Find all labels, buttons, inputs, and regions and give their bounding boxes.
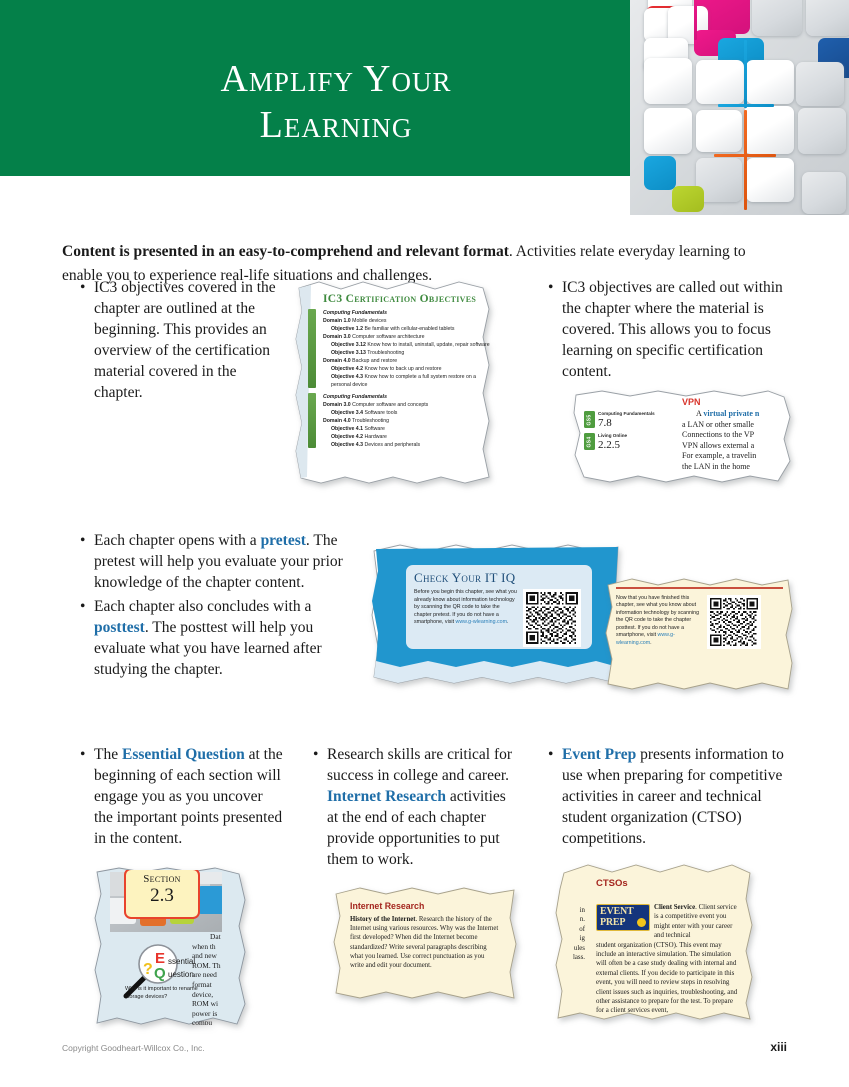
eq-column-line: Dat bbox=[192, 932, 246, 942]
posttest-copy-end: . bbox=[650, 640, 651, 646]
internet-research-content: Internet Research History of the Interne… bbox=[338, 891, 512, 999]
eq-column-line: device, bbox=[192, 990, 246, 1000]
ic3-bar-label: GS5 bbox=[301, 344, 302, 354]
ic3-objective-line: Objective 4.3 Devices and peripherals bbox=[323, 441, 490, 449]
ic3-bar-label: GS4 bbox=[301, 416, 302, 426]
bullet-dot-icon: • bbox=[80, 277, 94, 403]
posttest-content: Now that you have finished this chapter,… bbox=[610, 582, 789, 690]
vpn-body-line: A virtual private n bbox=[682, 409, 792, 420]
bullet-text-pre: Each chapter opens with a bbox=[94, 532, 261, 549]
bullet-highlight-event-prep: Event Prep bbox=[562, 746, 636, 763]
bullet-highlight-essential-question: Essential Question bbox=[122, 746, 245, 763]
internet-research-copy: History of the Internet. Research the hi… bbox=[350, 915, 500, 970]
posttest-divider bbox=[616, 587, 783, 589]
ic3-objective-line: Objective 4.3 Know how to complete a ful… bbox=[323, 373, 490, 389]
ic3-objective-line: Objective 3.4 Software tools bbox=[323, 409, 490, 417]
figure-posttest-callout: Now that you have finished this chapter,… bbox=[604, 577, 794, 695]
pretest-card: Check Your IT IQ Before you begin this c… bbox=[406, 565, 592, 649]
vpn-body-lines: A virtual private na LAN or other smalle… bbox=[682, 409, 792, 472]
svg-text:Q: Q bbox=[154, 965, 166, 982]
eq-column-line: ROM wi bbox=[192, 999, 246, 1009]
gs-objective-number: 7.8 bbox=[598, 417, 655, 429]
qr-code-icon bbox=[710, 598, 758, 646]
figure-vpn-callout: GS5Computing Fundamentals7.8GS4Living On… bbox=[572, 389, 796, 487]
qr-code-pretest[interactable] bbox=[523, 589, 581, 647]
pretest-copy-end: . bbox=[507, 619, 508, 625]
ctso-copy-full: student organization (CTSO). This event … bbox=[596, 941, 739, 1016]
internet-research-title: Internet Research bbox=[350, 901, 512, 911]
ic3-group-heading: Computing Fundamentals bbox=[323, 393, 490, 401]
svg-text:uestion: uestion bbox=[168, 970, 194, 979]
bullet-group-essential-question: • The Essential Question at the beginnin… bbox=[80, 744, 285, 852]
ic3-group: GS5Computing FundamentalsDomain 1.0 Mobi… bbox=[323, 309, 490, 389]
eq-column-line: format bbox=[192, 980, 246, 990]
bullet-text-pre: Each chapter also concludes with a bbox=[94, 598, 311, 615]
ic3-content: IC3 Certification Objectives GS5Computin… bbox=[301, 284, 490, 482]
ctso-left-fragment: in bbox=[561, 906, 585, 915]
eq-column-line: and new bbox=[192, 951, 246, 961]
bullet-text: IC3 objectives covered in the chapter ar… bbox=[94, 277, 285, 403]
section-label: Section bbox=[126, 873, 198, 885]
footer-copyright: Copyright Goodheart-Willcox Co., Inc. bbox=[62, 1043, 205, 1053]
page-number: xiii bbox=[770, 1040, 787, 1054]
intro-lead: Content is presented in an easy-to-compr… bbox=[62, 243, 509, 260]
figure-essential-question: Section 2.3 ? E Q ssential uestion Why i… bbox=[93, 866, 253, 1029]
gs-code-badge: GS4 bbox=[584, 433, 595, 450]
bullet-text: Each chapter opens with a pretest. The p… bbox=[94, 530, 350, 593]
list-item: • Each chapter opens with a pretest. The… bbox=[80, 530, 350, 593]
vpn-body-line: the LAN in the home bbox=[682, 462, 792, 473]
ic3-group: GS4Computing FundamentalsDomain 3.0 Comp… bbox=[323, 393, 490, 449]
ctso-left-fragment: n. bbox=[561, 915, 585, 924]
vpn-body-line: VPN allows external a bbox=[682, 441, 792, 452]
section-tab: Section 2.3 bbox=[124, 870, 200, 919]
ctso-copy-indented: Client Service. Client service is a comp… bbox=[596, 903, 739, 941]
bullet-highlight-pretest: pretest bbox=[261, 532, 306, 549]
list-item: • Each chapter also concludes with a pos… bbox=[80, 596, 350, 680]
list-item: • Event Prep presents information to use… bbox=[548, 744, 786, 849]
list-item: • IC3 objectives are called out within t… bbox=[548, 277, 786, 382]
ctso-lead: Client Service bbox=[654, 904, 695, 911]
vpn-body-line: a LAN or other smalle bbox=[682, 420, 792, 431]
ic3-group-heading: Computing Fundamentals bbox=[323, 309, 490, 317]
bullet-dot-icon: • bbox=[80, 530, 94, 593]
ic3-objective-line: Objective 3.12 Know how to install, unin… bbox=[323, 341, 490, 349]
ctso-left-fragment: lass. bbox=[561, 953, 585, 962]
ic3-domain-line: Domain 4.0 Backup and restore bbox=[323, 357, 490, 365]
eq-column-line: power is bbox=[192, 1009, 246, 1019]
bullet-highlight-internet-research: Internet Research bbox=[327, 788, 446, 805]
ctso-content: CTSOs inn.ofiguleslass. EVENT PREP Clien… bbox=[560, 868, 749, 1018]
bullet-highlight-posttest: posttest bbox=[94, 619, 145, 636]
ctso-left-fragment: ig bbox=[561, 934, 585, 943]
ic3-group-list: GS5Computing FundamentalsDomain 1.0 Mobi… bbox=[301, 309, 490, 449]
vpn-heading: VPN bbox=[682, 397, 792, 407]
list-item: • The Essential Question at the beginnin… bbox=[80, 744, 285, 849]
page-title: Amplify Your Learning bbox=[0, 56, 672, 148]
gs-code-badge: GS5 bbox=[584, 411, 595, 428]
bullet-dot-icon: • bbox=[548, 277, 562, 382]
section-number: 2.3 bbox=[126, 885, 198, 906]
internet-research-body: . Research the history of the Internet u… bbox=[350, 916, 498, 969]
eq-column-line: compu bbox=[192, 1018, 246, 1025]
eq-body-column: Datwhen thand newROM. Thare needformatde… bbox=[192, 932, 246, 1025]
vpn-text-column: VPN A virtual private na LAN or other sm… bbox=[682, 397, 792, 472]
posttest-copy: Now that you have finished this chapter,… bbox=[616, 595, 702, 649]
ic3-domain-line: Domain 3.0 Computer software and concept… bbox=[323, 401, 490, 409]
ic3-group-bar: GS4 bbox=[308, 393, 316, 448]
page-title-line2: Learning bbox=[0, 102, 672, 148]
header-mosaic-decoration bbox=[630, 0, 849, 215]
ctso-left-fragment: ules bbox=[561, 944, 585, 953]
svg-text:?: ? bbox=[143, 961, 153, 978]
list-item: • IC3 objectives covered in the chapter … bbox=[80, 277, 285, 403]
ic3-objective-line: Objective 1.2 Be familiar with cellular-… bbox=[323, 325, 490, 333]
figure-check-your-it-iq: Check Your IT IQ Before you begin this c… bbox=[370, 543, 622, 703]
figure-ctso-event-prep: CTSOs inn.ofiguleslass. EVENT PREP Clien… bbox=[554, 863, 754, 1023]
bullet-text-pre: Research skills are critical for success… bbox=[327, 746, 512, 784]
eq-column-line: are need bbox=[192, 970, 246, 980]
page-header: Amplify Your Learning bbox=[0, 0, 849, 215]
bullet-text: IC3 objectives are called out within the… bbox=[562, 277, 786, 382]
figure-ic3-certification-objectives: IC3 Certification Objectives GS5Computin… bbox=[293, 279, 496, 487]
bullet-dot-icon: • bbox=[80, 744, 94, 849]
essential-question-content: Section 2.3 ? E Q ssential uestion Why i… bbox=[98, 870, 248, 1025]
bullet-group-ic3-outline: • IC3 objectives covered in the chapter … bbox=[80, 277, 285, 406]
ic3-domain-line: Domain 1.0 Mobile devices bbox=[323, 317, 490, 325]
bullet-group-event-prep: • Event Prep presents information to use… bbox=[548, 744, 786, 852]
internet-research-lead: History of the Internet bbox=[350, 916, 416, 923]
ic3-objective-line: Objective 4.2 Hardware bbox=[323, 433, 490, 441]
eq-column-line: when th bbox=[192, 942, 246, 952]
vpn-badges: GS5Computing Fundamentals7.8GS4Living On… bbox=[584, 411, 679, 455]
eq-column-line: ROM. Th bbox=[192, 961, 246, 971]
bullet-text: Research skills are critical for success… bbox=[327, 744, 513, 870]
ic3-objective-line: Objective 4.1 Software bbox=[323, 425, 490, 433]
qr-code-icon bbox=[526, 592, 578, 644]
pretest-url: www.g-wlearning.com bbox=[456, 619, 508, 625]
bullet-text: Event Prep presents information to use w… bbox=[562, 744, 786, 849]
pretest-copy: Before you begin this chapter, see what … bbox=[414, 589, 518, 647]
ctso-copy: Client Service. Client service is a comp… bbox=[596, 903, 739, 1016]
bullet-group-pretest-posttest: • Each chapter opens with a pretest. The… bbox=[80, 530, 350, 683]
bullet-dot-icon: • bbox=[548, 744, 562, 849]
ic3-objective-line: Objective 4.2 Know how to back up and re… bbox=[323, 365, 490, 373]
vpn-body-line: For example, a travelin bbox=[682, 451, 792, 462]
gs-objective-number: 2.2.5 bbox=[598, 439, 627, 451]
list-item: • Research skills are critical for succe… bbox=[313, 744, 513, 870]
ic3-group-bar: GS5 bbox=[308, 309, 316, 388]
page-title-line1: Amplify Your bbox=[0, 56, 672, 102]
pretest-title: Check Your IT IQ bbox=[414, 570, 592, 586]
bullet-dot-icon: • bbox=[313, 744, 327, 870]
bullet-text-pre: The bbox=[94, 746, 122, 763]
ic3-title: IC3 Certification Objectives bbox=[323, 293, 490, 305]
vpn-body-line: Connections to the VP bbox=[682, 430, 792, 441]
vpn-content: GS5Computing Fundamentals7.8GS4Living On… bbox=[578, 393, 792, 483]
bullet-text: The Essential Question at the beginning … bbox=[94, 744, 285, 849]
ic3-domain-line: Domain 4.0 Troubleshooting bbox=[323, 417, 490, 425]
bullet-group-ic3-calledout: • IC3 objectives are called out within t… bbox=[548, 277, 786, 385]
qr-code-posttest[interactable] bbox=[707, 595, 761, 649]
ctso-title: CTSOs bbox=[596, 878, 749, 889]
bullet-text: Each chapter also concludes with a postt… bbox=[94, 596, 350, 680]
ctso-left-fragment: of bbox=[561, 925, 585, 934]
ic3-domain-line: Domain 3.0 Computer software architectur… bbox=[323, 333, 490, 341]
bullet-group-internet-research: • Research skills are critical for succe… bbox=[313, 744, 513, 873]
ctso-left-fragments: inn.ofiguleslass. bbox=[561, 906, 585, 962]
ic3-objective-line: Objective 3.13 Troubleshooting bbox=[323, 349, 490, 357]
figure-internet-research: Internet Research History of the Interne… bbox=[332, 886, 518, 1004]
bullet-dot-icon: • bbox=[80, 596, 94, 680]
vpn-objective-badge-row: GS4Living Online2.2.5 bbox=[584, 433, 679, 451]
vpn-objective-badge-row: GS5Computing Fundamentals7.8 bbox=[584, 411, 679, 429]
